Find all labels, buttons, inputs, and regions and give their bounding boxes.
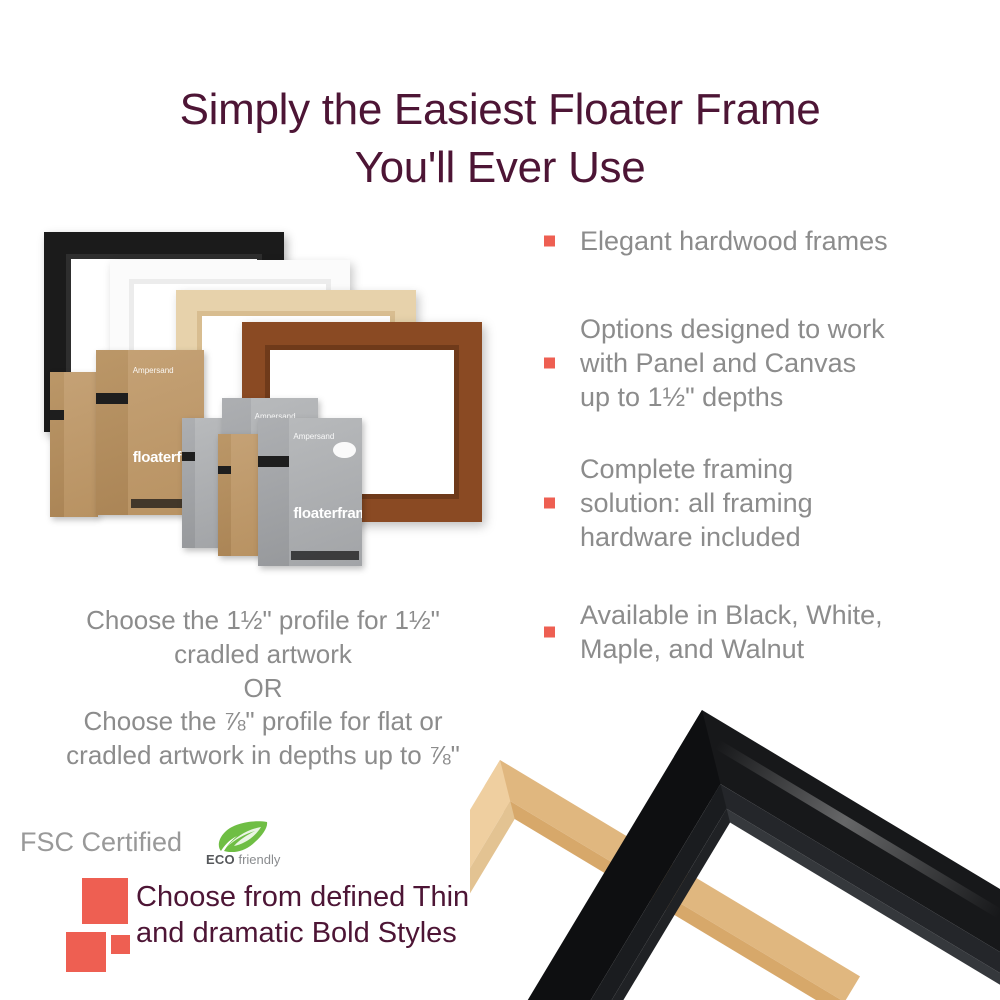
feature-bullet-list: Elegant hardwood frames Options designed… — [538, 222, 958, 700]
box-callout-sticker — [333, 442, 356, 459]
feature-bullet-3-text: Complete framing solution: all framing h… — [580, 452, 813, 554]
box-black-bar — [218, 466, 231, 475]
product-box-spine-kraft-1 — [50, 372, 98, 517]
brand-logo — [66, 878, 132, 972]
leaf-icon — [215, 820, 271, 852]
box-spine — [218, 434, 231, 556]
feature-bullet-1: Elegant hardwood frames — [538, 222, 958, 260]
box-brand-label: Ampersand — [133, 367, 198, 376]
box-product-label: floaterframe — [293, 505, 357, 522]
product-box-spine-kraft-2 — [218, 434, 262, 556]
fsc-certified-label: FSC Certified — [20, 829, 182, 856]
certification-row: FSC Certified ECO friendly — [20, 818, 280, 866]
frame-corners-photo — [470, 700, 1000, 1000]
box-footer-strip — [291, 551, 359, 560]
eco-badge-text: ECO friendly — [206, 853, 280, 866]
headline-line-1: Simply the Easiest Floater Frame — [180, 85, 821, 134]
box-spine — [258, 418, 289, 566]
eco-badge-light-word: friendly — [238, 852, 280, 867]
feature-bullet-3: Complete framing solution: all framing h… — [538, 452, 958, 554]
feature-bullet-4: Available in Black, White, Maple, and Wa… — [538, 598, 958, 666]
feature-bullet-4-text: Available in Black, White, Maple, and Wa… — [580, 598, 883, 666]
box-spine — [50, 372, 64, 517]
box-black-bar — [96, 393, 128, 405]
eco-friendly-badge: ECO friendly — [206, 820, 280, 866]
logo-square-small — [111, 935, 130, 954]
infographic-page: Simply the Easiest Floater Frame You'll … — [0, 0, 1000, 1000]
frame-corner-black-inner-lip — [545, 784, 1000, 1000]
box-black-bar — [258, 456, 289, 466]
bullet-square-icon — [544, 498, 555, 509]
eco-badge-strong: ECO — [206, 852, 235, 867]
logo-square-medium — [66, 932, 106, 972]
profile-instructions: Choose the 1½" profile for 1½" cradled a… — [8, 604, 518, 773]
product-box-gray-2: Ampersand floaterframe — [258, 418, 362, 566]
feature-bullet-2: Options designed to work with Panel and … — [538, 312, 958, 414]
box-spine — [182, 418, 195, 548]
bullet-square-icon — [544, 236, 555, 247]
logo-square-large — [82, 878, 128, 924]
box-black-bar — [50, 410, 64, 420]
bullet-square-icon — [544, 358, 555, 369]
frame-stack-photo: Ampersand floaterframe Ampersand floater… — [22, 222, 502, 572]
bullet-square-icon — [544, 627, 555, 638]
headline-line-2: You'll Ever Use — [60, 139, 940, 196]
box-spine — [96, 350, 128, 515]
box-brand-label: Ampersand — [293, 433, 355, 442]
page-title: Simply the Easiest Floater Frame You'll … — [60, 81, 940, 195]
box-black-bar — [182, 452, 195, 461]
feature-bullet-2-text: Options designed to work with Panel and … — [580, 312, 885, 414]
feature-bullet-1-text: Elegant hardwood frames — [580, 224, 888, 258]
